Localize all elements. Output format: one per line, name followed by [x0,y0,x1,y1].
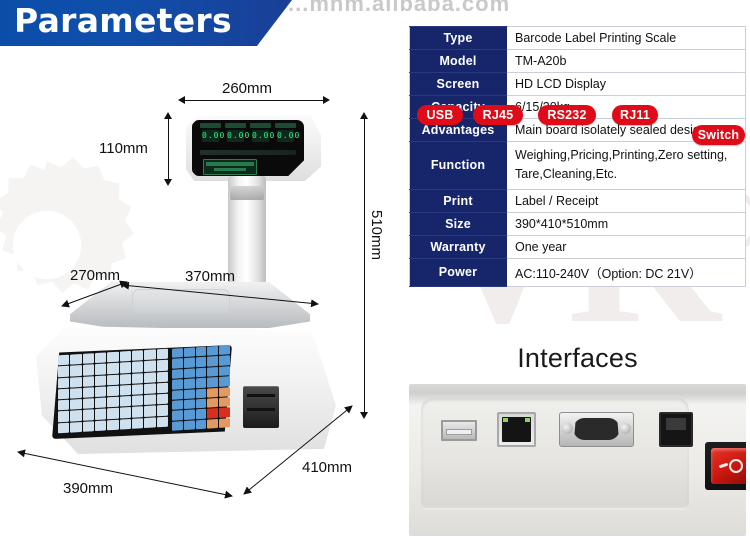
port-label-switch: Switch [692,125,745,145]
table-row: Warranty One year [410,235,746,258]
port-recess [421,398,689,510]
table-row: Type Barcode Label Printing Scale [410,27,746,50]
spec-value: Barcode Label Printing Scale [507,27,746,50]
spec-key: Print [410,189,507,212]
port-label-rs232: RS232 [538,105,596,125]
table-row: Screen HD LCD Display [410,73,746,96]
spec-value: One year [507,235,746,258]
spec-value: Weighing,Pricing,Printing,Zero setting, … [507,142,746,190]
table-row: Power AC:110-240V（Option: DC 21V） [410,258,746,286]
spec-key: Type [410,27,507,50]
spec-value: TM-A20b [507,50,746,73]
specification-table-body: Type Barcode Label Printing Scale Model … [410,27,746,287]
port-label-rj45: RJ45 [473,105,523,125]
port-label-usb: USB [417,105,463,125]
spec-value: 390*410*510mm [507,212,746,235]
rj11-port-icon [659,412,693,447]
table-row: Size 390*410*510mm [410,212,746,235]
dim-label-base-depth: 410mm [302,459,352,476]
spec-key: Function [410,142,507,190]
rj45-port-icon [497,412,536,447]
port-label-rj11: RJ11 [612,105,658,125]
spec-key: Warranty [410,235,507,258]
spec-key: Power [410,258,507,286]
table-row: Print Label / Receipt [410,189,746,212]
table-row: Model TM-A20b [410,50,746,73]
dim-label-platter-depth: 270mm [70,267,120,284]
spec-value: AC:110-240V（Option: DC 21V） [507,258,746,286]
spec-key: Model [410,50,507,73]
spec-key: Screen [410,73,507,96]
specification-table: Type Barcode Label Printing Scale Model … [409,26,746,287]
product-spec-sheet: ...mnm.alibaba.com VK ® Parameters 0.00 … [0,0,750,552]
dim-label-base-width: 390mm [63,480,113,497]
rocker-switch-icon[interactable] [711,448,746,484]
interfaces-title: Interfaces [409,343,746,374]
dim-label-platter-width: 370mm [185,268,235,285]
interfaces-panel-photo [409,384,746,536]
spec-value: HD LCD Display [507,73,746,96]
product-photo: 0.00 0.00 0.00 0.00 [0,0,405,552]
usb-port-icon [441,420,477,441]
spec-value: Label / Receipt [507,189,746,212]
rs232-port-icon [559,412,634,447]
switch-recess [705,442,746,490]
table-row: Function Weighing,Pricing,Printing,Zero … [410,142,746,190]
spec-key: Size [410,212,507,235]
